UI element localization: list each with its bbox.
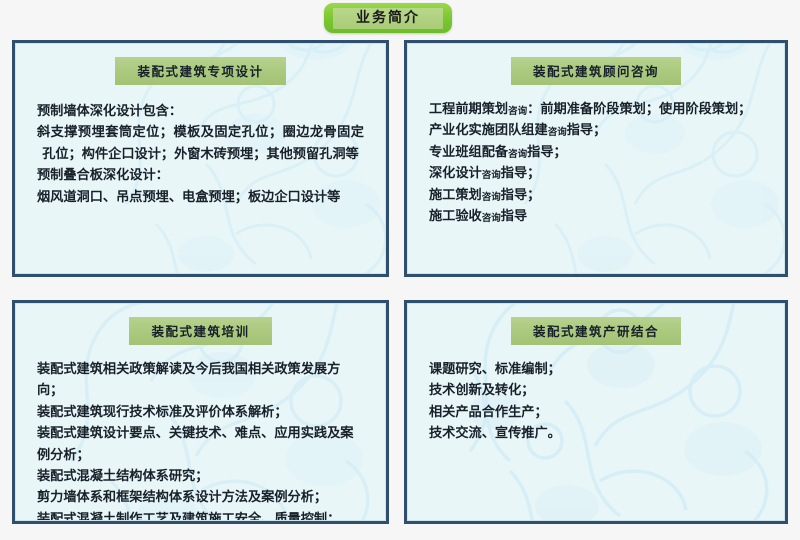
- consulting-line-3-small: 咨询: [508, 149, 527, 160]
- consulting-line-4-small: 咨询: [482, 170, 501, 181]
- panel-research-header-label: 装配式建筑产研结合: [533, 324, 659, 339]
- research-line-2: 技术创新及转化；: [429, 380, 763, 401]
- consulting-line-3: 专业班组配备咨询指导；: [429, 142, 763, 163]
- consulting-line-1-main: 工程前期策划: [429, 102, 508, 117]
- research-line-4: 技术交流、宣传推广。: [429, 423, 763, 444]
- consulting-line-4-tail: 指导；: [501, 166, 541, 181]
- panel-consulting-body: 工程前期策划咨询：前期准备阶段策划；使用阶段策划； 产业化实施团队组建咨询指导；…: [407, 85, 785, 227]
- design-line-4: 烟风道洞口、吊点预埋、电盒预埋；板边企口设计等: [37, 187, 364, 208]
- panel-design-header-plate: 装配式建筑专项设计: [115, 57, 285, 85]
- panel-consulting-header-label: 装配式建筑顾问咨询: [533, 64, 659, 79]
- panel-consulting-header-plate: 装配式建筑顾问咨询: [511, 57, 681, 85]
- panel-consulting: 装配式建筑顾问咨询 工程前期策划咨询：前期准备阶段策划；使用阶段策划； 产业化实…: [404, 40, 788, 277]
- panel-training-header: 装配式建筑培训: [15, 303, 386, 345]
- page-title-plate: 业务简介: [333, 8, 443, 29]
- panel-research-header-plate: 装配式建筑产研结合: [511, 317, 681, 345]
- consulting-line-5: 施工策划咨询指导；: [429, 185, 763, 206]
- consulting-line-6-small: 咨询: [482, 213, 501, 224]
- panel-design-body: 预制墙体深化设计包含： 斜支撑预埋套筒定位；模板及固定孔位；圈边龙骨固定孔位；构…: [15, 85, 386, 208]
- design-line-3: 预制叠合板深化设计：: [37, 165, 364, 186]
- consulting-line-5-small: 咨询: [482, 192, 501, 203]
- consulting-line-2-main: 产业化实施团队组建: [429, 123, 548, 138]
- training-line-1: 装配式建筑相关政策解读及今后我国相关政策发展方向；: [37, 359, 364, 402]
- panel-training-body: 装配式建筑相关政策解读及今后我国相关政策发展方向； 装配式建筑现行技术标准及评价…: [15, 345, 386, 524]
- consulting-line-1-tail: ：前期准备阶段策划；使用阶段策划；: [527, 102, 751, 117]
- consulting-line-2: 产业化实施团队组建咨询指导；: [429, 120, 763, 141]
- training-line-5: 剪力墙体系和框架结构体系设计方法及案例分析；: [37, 487, 364, 508]
- page-title-banner: 业务简介: [324, 3, 452, 33]
- consulting-line-5-main: 施工策划: [429, 188, 482, 203]
- consulting-line-3-main: 专业班组配备: [429, 145, 508, 160]
- consulting-line-6-tail: 指导: [501, 209, 527, 224]
- consulting-line-6: 施工验收咨询指导: [429, 206, 763, 227]
- page-title: 业务简介: [356, 11, 420, 25]
- training-line-3: 装配式建筑设计要点、关键技术、难点、应用实践及案例分析；: [37, 423, 364, 466]
- design-line-1: 预制墙体深化设计包含：: [37, 101, 364, 122]
- panel-design-header: 装配式建筑专项设计: [15, 43, 386, 85]
- panel-research-header: 装配式建筑产研结合: [407, 303, 785, 345]
- design-line-2: 斜支撑预埋套筒定位；模板及固定孔位；圈边龙骨固定孔位；构件企口设计；外窗木砖预埋…: [37, 122, 364, 165]
- research-line-3: 相关产品合作生产；: [429, 402, 763, 423]
- consulting-line-4-main: 深化设计: [429, 166, 482, 181]
- consulting-line-1-small: 咨询: [508, 106, 527, 117]
- panel-training-header-plate: 装配式建筑培训: [129, 317, 271, 345]
- panel-research: 装配式建筑产研结合 课题研究、标准编制； 技术创新及转化； 相关产品合作生产； …: [404, 300, 788, 524]
- consulting-line-2-small: 咨询: [548, 127, 567, 138]
- consulting-line-1: 工程前期策划咨询：前期准备阶段策划；使用阶段策划；: [429, 99, 763, 120]
- training-line-2: 装配式建筑现行技术标准及评价体系解析；: [37, 402, 364, 423]
- panel-research-body: 课题研究、标准编制； 技术创新及转化； 相关产品合作生产； 技术交流、宣传推广。: [407, 345, 785, 445]
- panel-training: 装配式建筑培训 装配式建筑相关政策解读及今后我国相关政策发展方向； 装配式建筑现…: [12, 300, 389, 524]
- panel-training-header-label: 装配式建筑培训: [151, 324, 249, 339]
- consulting-line-4: 深化设计咨询指导；: [429, 163, 763, 184]
- training-line-4: 装配式混凝土结构体系研究；: [37, 466, 364, 487]
- training-line-6: 装配式混凝土制作工艺及建筑施工安全、质量控制；: [37, 509, 364, 524]
- panel-consulting-header: 装配式建筑顾问咨询: [407, 43, 785, 85]
- research-line-1: 课题研究、标准编制；: [429, 359, 763, 380]
- panel-design-header-label: 装配式建筑专项设计: [137, 64, 263, 79]
- consulting-line-5-tail: 指导；: [501, 188, 541, 203]
- page-root: 业务简介: [0, 0, 800, 540]
- panel-design: 装配式建筑专项设计 预制墙体深化设计包含： 斜支撑预埋套筒定位；模板及固定孔位；…: [12, 40, 389, 277]
- consulting-line-3-tail: 指导；: [527, 145, 567, 160]
- consulting-line-2-tail: 指导；: [567, 123, 607, 138]
- consulting-line-6-main: 施工验收: [429, 209, 482, 224]
